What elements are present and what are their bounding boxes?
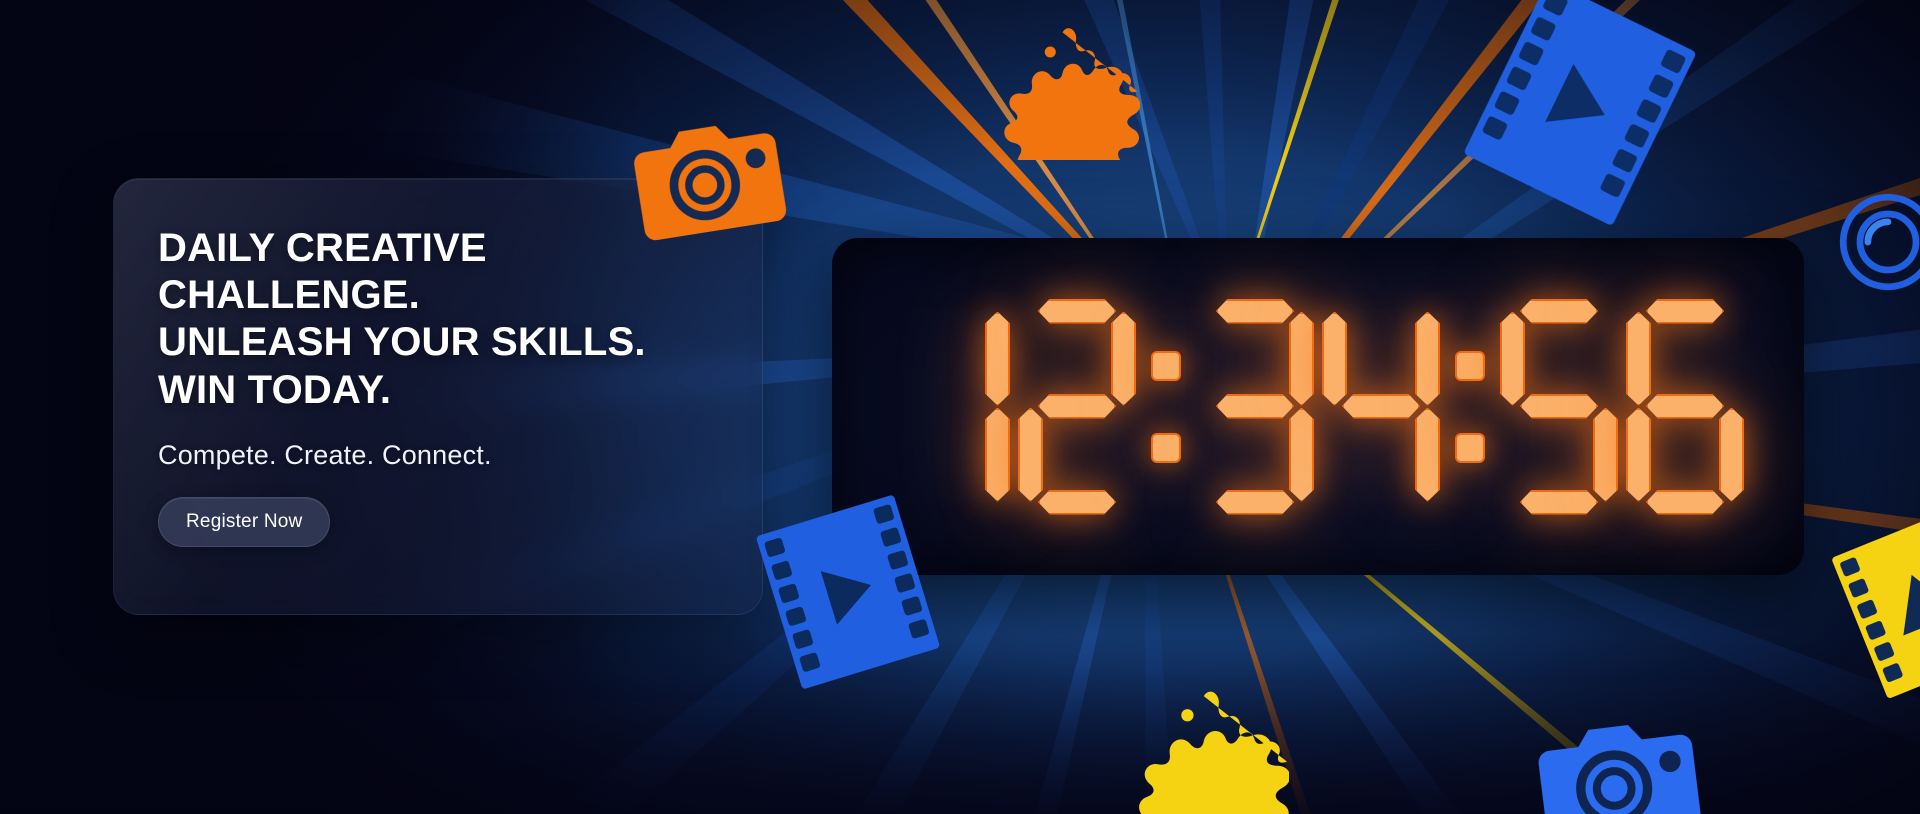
digit-segment-b (985, 312, 1010, 406)
digit-segment-c (1415, 408, 1440, 502)
subtitle: Compete. Create. Connect. (158, 440, 718, 471)
digit-segment-d (1216, 490, 1294, 515)
digit-segment-g (1038, 394, 1116, 419)
paint-splat-icon (990, 25, 1140, 160)
digit-segment-f (1500, 312, 1525, 406)
clock-colon (1144, 299, 1188, 515)
colon-dot-top (1455, 351, 1485, 381)
paint-splat-icon (1124, 688, 1289, 814)
digit-segment-a (1646, 299, 1724, 324)
digit-segment-a (1216, 299, 1294, 324)
digit-segment-c (1289, 408, 1314, 502)
digit-segment-c (985, 408, 1010, 502)
digit-segment-g (1216, 394, 1294, 419)
lens-icon (1832, 186, 1920, 298)
register-now-button[interactable]: Register Now (158, 497, 330, 547)
digit-segment-d (1646, 490, 1724, 515)
countdown-timer (892, 299, 1744, 515)
clock-digit (1500, 299, 1618, 515)
digit-segment-d (1520, 490, 1598, 515)
digit-segment-e (1626, 408, 1651, 502)
digit-segment-b (1415, 312, 1440, 406)
promo-banner: DAILY CREATIVE CHALLENGE. UNLEASH YOUR S… (0, 0, 1920, 814)
digit-segment-f (1322, 312, 1347, 406)
colon-dot-bottom (1151, 433, 1181, 463)
countdown-clock-panel (832, 238, 1804, 575)
digit-segment-f (1626, 312, 1651, 406)
digit-segment-c (1719, 408, 1744, 502)
digit-segment-c (1593, 408, 1618, 502)
clock-digit (1018, 299, 1136, 515)
digit-segment-b (1289, 312, 1314, 406)
clock-digit (1196, 299, 1314, 515)
digit-segment-a (1038, 299, 1116, 324)
digit-segment-g (1646, 394, 1724, 419)
camera-icon (626, 97, 794, 258)
clock-digit (1626, 299, 1744, 515)
colon-dot-bottom (1455, 433, 1485, 463)
digit-segment-d (1038, 490, 1116, 515)
page-title: DAILY CREATIVE CHALLENGE. UNLEASH YOUR S… (158, 225, 718, 414)
clock-digit (1322, 299, 1440, 515)
clock-colon (1448, 299, 1492, 515)
digit-segment-g (1520, 394, 1598, 419)
digit-segment-b (1111, 312, 1136, 406)
camera-icon (1531, 697, 1708, 814)
digit-segment-a (1520, 299, 1598, 324)
digit-segment-g (1342, 394, 1420, 419)
digit-segment-e (1018, 408, 1043, 502)
colon-dot-top (1151, 351, 1181, 381)
